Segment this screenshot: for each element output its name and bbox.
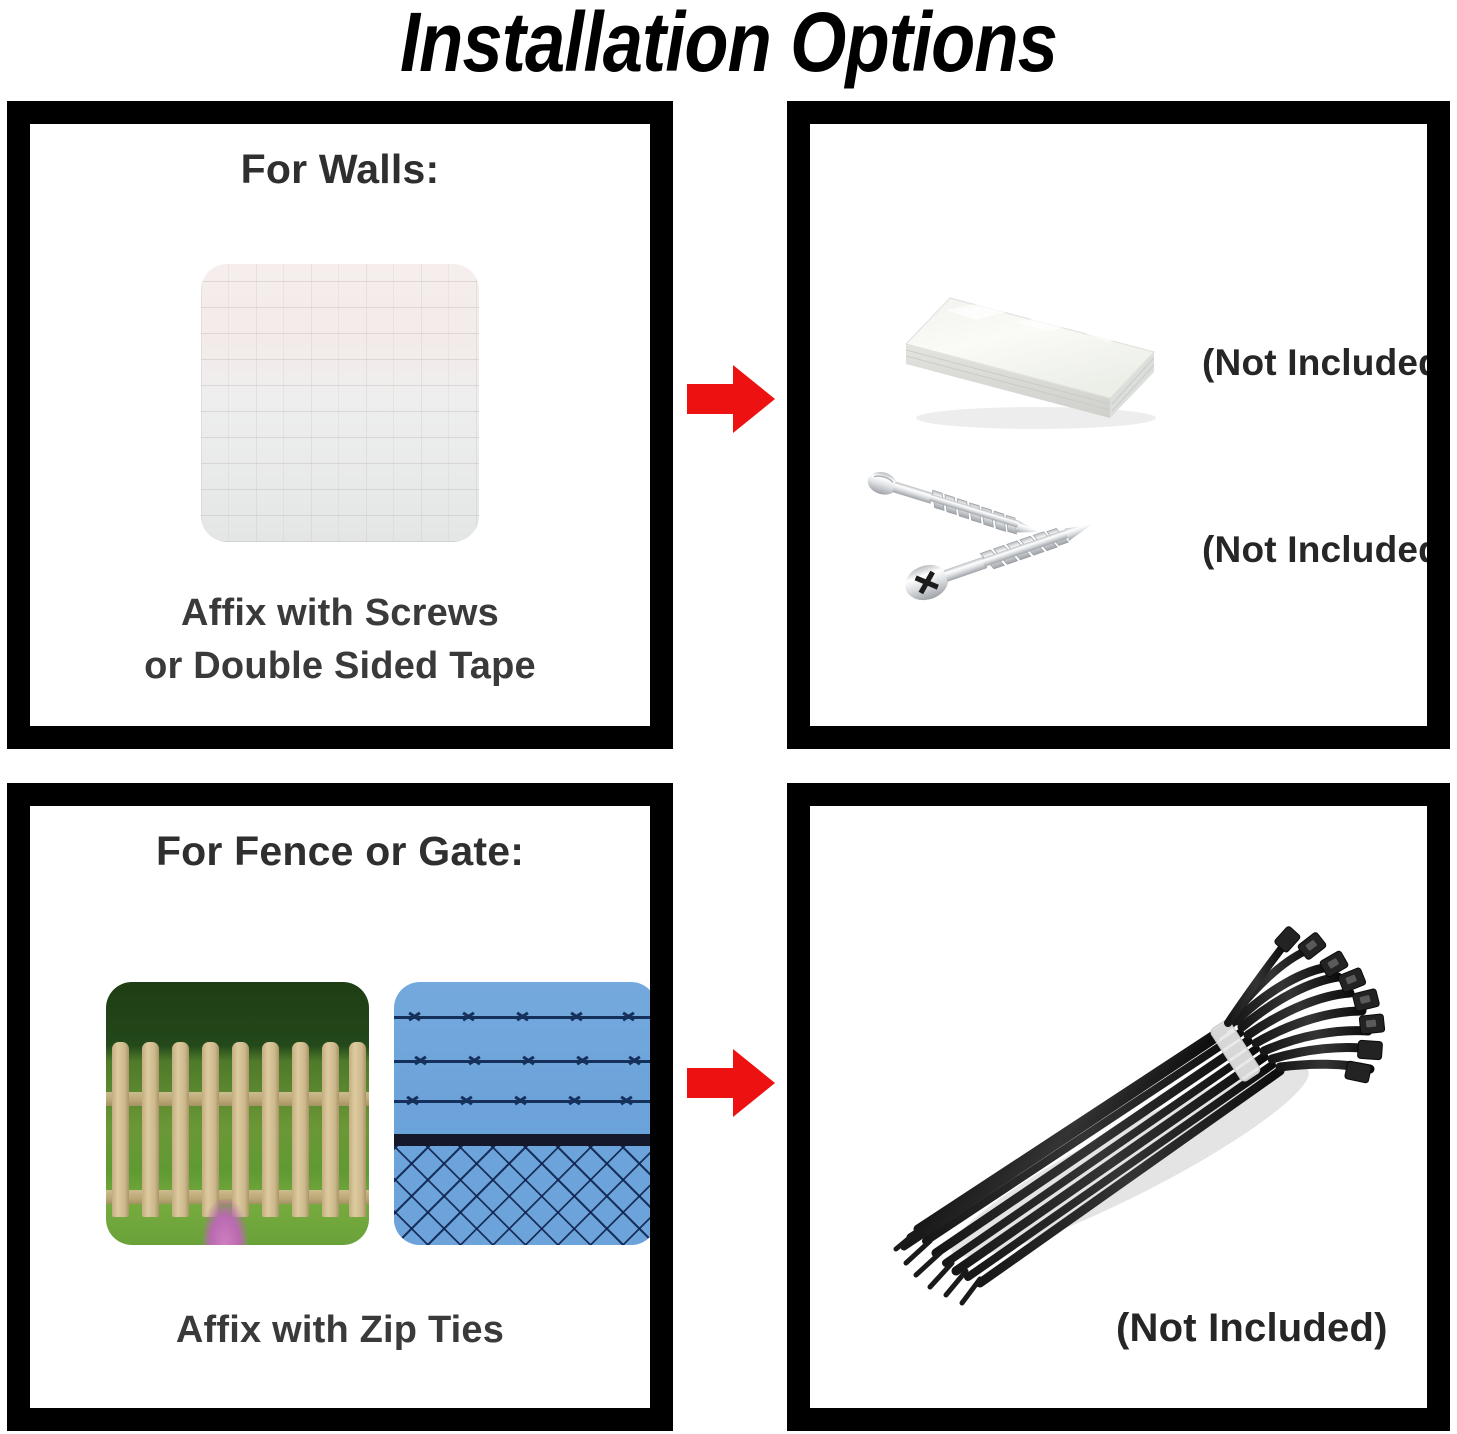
chain-link-barbed-wire-thumbnail xyxy=(394,982,650,1245)
red-right-arrow-icon xyxy=(685,1046,777,1120)
panel-for-walls-inner: For Walls: Affix with Screws or Double S… xyxy=(30,124,650,726)
panel-zip-ties-inner: (Not Included) xyxy=(810,806,1427,1408)
panel-for-fence-caption: Affix with Zip Ties xyxy=(30,1304,650,1356)
red-right-arrow-icon xyxy=(685,362,777,436)
panel-zip-ties: (Not Included) xyxy=(787,783,1450,1431)
white-brick-wall-thumbnail xyxy=(201,264,479,542)
black-zip-ties-bundle-image xyxy=(880,911,1390,1331)
caption-line-1: Affix with Screws xyxy=(30,587,650,639)
tape-not-included-label: (Not Included) xyxy=(1202,342,1427,384)
panel-wall-hardware: (Not Included) xyxy=(787,101,1450,749)
screw-not-included-label: (Not Included) xyxy=(1202,529,1427,571)
panel-for-fence-or-gate-inner: For Fence or Gate: xyxy=(30,806,650,1408)
panel-for-fence-heading: For Fence or Gate: xyxy=(30,828,650,875)
wood-screws-image xyxy=(858,454,1198,639)
zip-tie-not-included-label: (Not Included) xyxy=(1116,1306,1388,1351)
panel-for-walls-heading: For Walls: xyxy=(30,146,650,193)
caption-line-2: or Double Sided Tape xyxy=(30,640,650,692)
panel-for-fence-or-gate: For Fence or Gate: xyxy=(7,783,673,1431)
panel-for-walls-caption: Affix with Screws or Double Sided Tape xyxy=(30,587,650,692)
panel-for-walls: For Walls: Affix with Screws or Double S… xyxy=(7,101,673,749)
wooden-picket-fence-thumbnail xyxy=(106,982,369,1245)
page-title: Installation Options xyxy=(102,0,1355,91)
double-sided-tape-stack-image xyxy=(886,246,1186,431)
panel-wall-hardware-inner: (Not Included) xyxy=(810,124,1427,726)
